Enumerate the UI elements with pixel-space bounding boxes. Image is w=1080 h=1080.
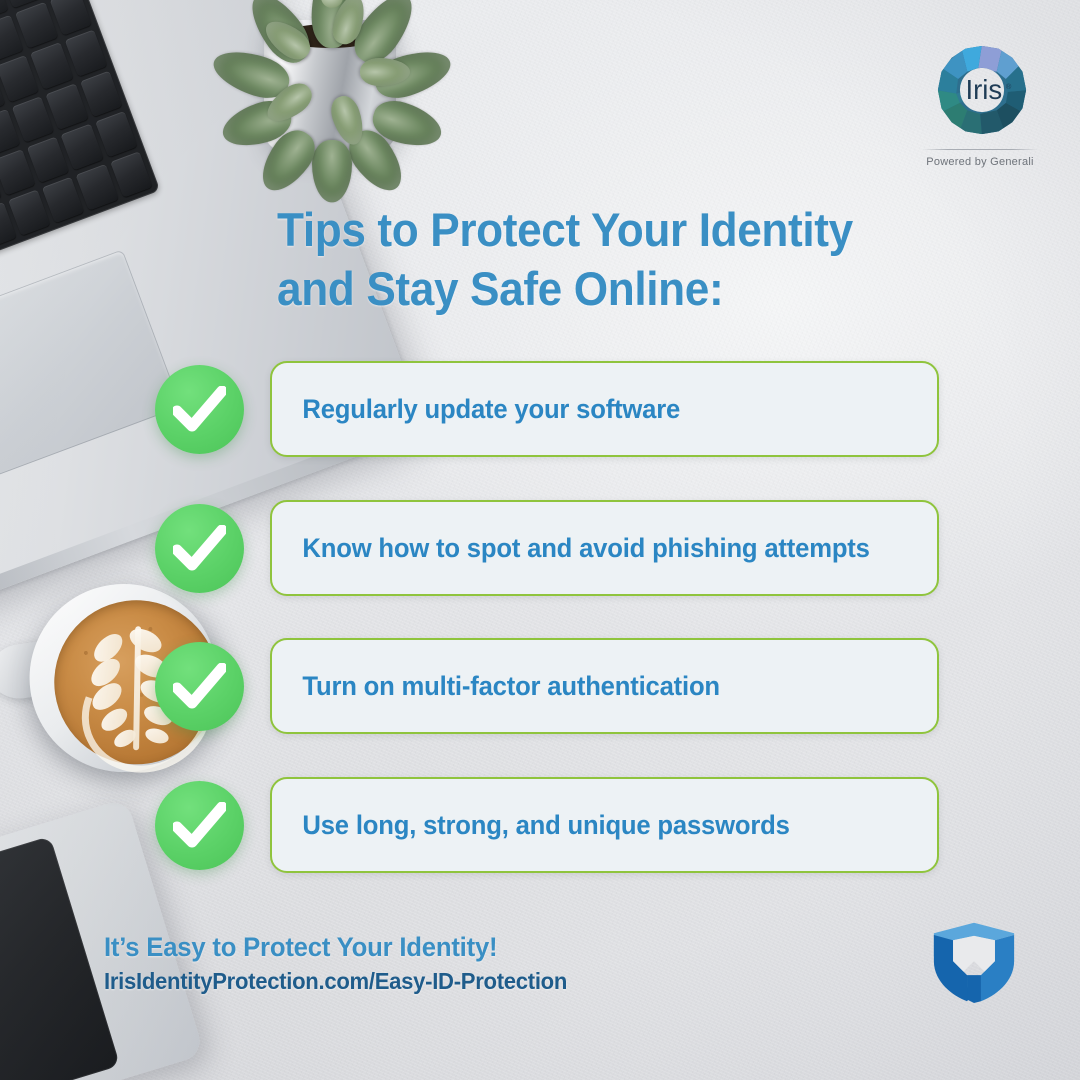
tip-card: Use long, strong, and unique passwords: [270, 777, 939, 873]
footer-cta-text: It’s Easy to Protect Your Identity!: [104, 932, 497, 963]
tip-text: Regularly update your software: [272, 394, 697, 425]
tips-list: Regularly update your software Know how …: [0, 0, 1080, 1080]
tip-card: Regularly update your software: [270, 361, 939, 457]
list-item: Use long, strong, and unique passwords: [155, 777, 955, 873]
checkmark-icon: [155, 365, 244, 454]
shield-icon: [930, 921, 1018, 1003]
tip-text: Know how to spot and avoid phishing atte…: [272, 533, 887, 564]
identity-protection-tips-poster: Iris ® Powered by Generali Tips to Prote…: [0, 0, 1080, 1080]
list-item: Regularly update your software: [155, 361, 955, 457]
list-item: Know how to spot and avoid phishing atte…: [155, 500, 955, 596]
tip-card: Know how to spot and avoid phishing atte…: [270, 500, 939, 596]
tip-card: Turn on multi-factor authentication: [270, 638, 939, 734]
list-item: Turn on multi-factor authentication: [155, 638, 955, 734]
checkmark-icon: [155, 504, 244, 593]
tip-text: Turn on multi-factor authentication: [272, 671, 737, 702]
tip-text: Use long, strong, and unique passwords: [272, 810, 807, 841]
checkmark-icon: [155, 781, 244, 870]
footer-url-link[interactable]: IrisIdentityProtection.com/Easy-ID-Prote…: [104, 968, 567, 995]
checkmark-icon: [155, 642, 244, 731]
